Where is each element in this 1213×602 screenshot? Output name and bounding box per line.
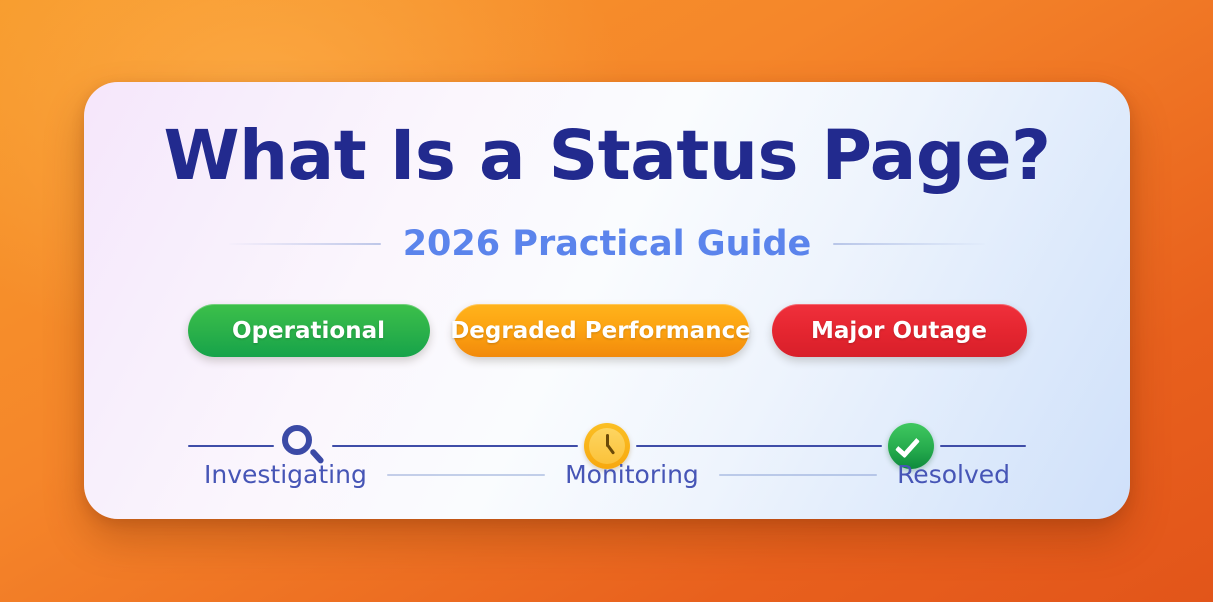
subtitle-row: 2026 Practical Guide — [84, 224, 1130, 264]
timeline-label-monitoring: Monitoring — [565, 460, 699, 489]
timeline-label-connector-2 — [719, 474, 877, 476]
timeline-label-resolved: Resolved — [897, 460, 1010, 489]
timeline-segment-end — [940, 445, 1026, 447]
subtitle-rule-right — [833, 243, 985, 245]
status-badge-major-outage[interactable]: Major Outage — [772, 304, 1027, 357]
status-badge-operational[interactable]: Operational — [188, 304, 430, 357]
timeline-segment-2 — [636, 445, 882, 447]
timeline-label-investigating: Investigating — [204, 460, 367, 489]
status-page-card: What Is a Status Page? 2026 Practical Gu… — [84, 82, 1130, 519]
timeline-label-connector-1 — [387, 474, 545, 476]
card-content: What Is a Status Page? 2026 Practical Gu… — [84, 82, 1130, 519]
status-badge-degraded-performance[interactable]: Degraded Performance — [453, 304, 749, 357]
incident-timeline: Investigating Monitoring Resolved — [188, 382, 1026, 492]
page-title: What Is a Status Page? — [84, 122, 1130, 191]
timeline-segment-1 — [332, 445, 578, 447]
page-subtitle: 2026 Practical Guide — [403, 224, 812, 264]
poster-scene: What Is a Status Page? 2026 Practical Gu… — [0, 0, 1213, 602]
timeline-labels: Investigating Monitoring Resolved — [188, 460, 1026, 489]
timeline-segment-start — [188, 445, 274, 447]
subtitle-rule-left — [229, 243, 381, 245]
status-pill-group: Operational Degraded Performance Major O… — [84, 304, 1130, 357]
